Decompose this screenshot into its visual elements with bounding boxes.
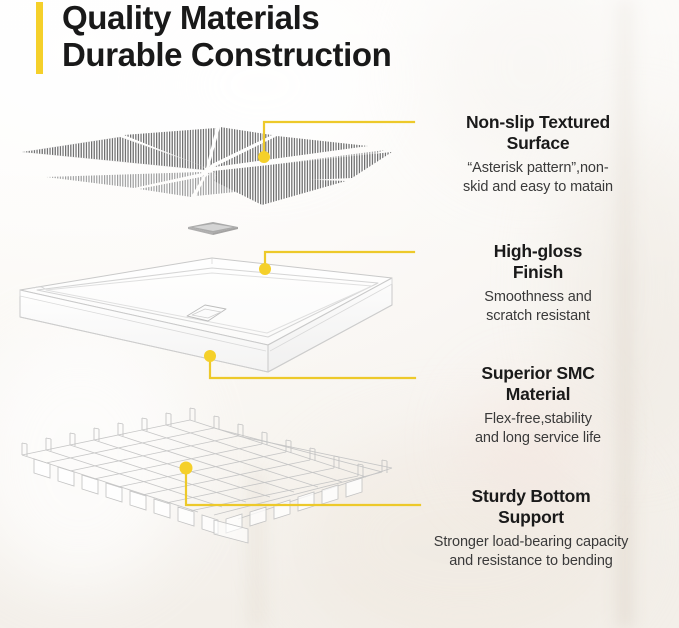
support-grid-layer <box>22 408 392 543</box>
callout-title-line-1: Non-slip Textured <box>414 112 662 133</box>
callout-title-line-2: Support <box>388 507 674 528</box>
callout-title: Sturdy Bottom Support <box>388 486 674 528</box>
drain-cover-layer <box>188 222 238 235</box>
page-title: Quality Materials Durable Construction <box>62 0 391 74</box>
callout-title-line-2: Material <box>414 384 662 405</box>
callout-body-line-1: Smoothness and <box>414 288 662 307</box>
callout-title-line-2: Finish <box>414 262 662 283</box>
callout-non-slip-textured-surface: Non-slip Textured Surface “Asterisk patt… <box>414 112 662 196</box>
accent-bar <box>36 2 43 74</box>
callout-body-line-1: “Asterisk pattern”,non- <box>414 159 662 178</box>
callout-body-line-2: and long service life <box>414 429 662 448</box>
callout-title-line-1: Sturdy Bottom <box>388 486 674 507</box>
callout-body-line-1: Flex-free,stability <box>414 410 662 429</box>
marker-dot-3 <box>204 350 216 362</box>
callout-title: High-gloss Finish <box>414 241 662 283</box>
callout-title: Superior SMC Material <box>414 363 662 405</box>
callout-body-line-2: skid and easy to matain <box>414 178 662 197</box>
callout-superior-smc-material: Superior SMC Material Flex-free,stabilit… <box>414 363 662 447</box>
callout-body: Stronger load-bearing capacity and resis… <box>388 533 674 570</box>
marker-dot-1 <box>258 151 270 163</box>
callout-body-line-1: Stronger load-bearing capacity <box>388 533 674 552</box>
callout-title-line-1: Superior SMC <box>414 363 662 384</box>
textured-surface-layer <box>22 127 392 205</box>
page-title-line-1: Quality Materials <box>62 0 391 37</box>
callout-body: “Asterisk pattern”,non- skid and easy to… <box>414 159 662 196</box>
callout-body-line-2: and resistance to bending <box>388 552 674 571</box>
marker-dot-2 <box>259 263 271 275</box>
callout-title: Non-slip Textured Surface <box>414 112 662 154</box>
callout-body-line-2: scratch resistant <box>414 307 662 326</box>
callout-body: Flex-free,stability and long service lif… <box>414 410 662 447</box>
page-title-line-2: Durable Construction <box>62 37 391 74</box>
callout-title-line-2: Surface <box>414 133 662 154</box>
infographic-stage: Quality Materials Durable Construction N… <box>0 0 679 628</box>
marker-dot-4 <box>180 462 193 475</box>
callout-body: Smoothness and scratch resistant <box>414 288 662 325</box>
callout-sturdy-bottom-support: Sturdy Bottom Support Stronger load-bear… <box>388 486 674 570</box>
callout-high-gloss-finish: High-gloss Finish Smoothness and scratch… <box>414 241 662 325</box>
callout-title-line-1: High-gloss <box>414 241 662 262</box>
page-header: Quality Materials Durable Construction <box>36 0 391 74</box>
